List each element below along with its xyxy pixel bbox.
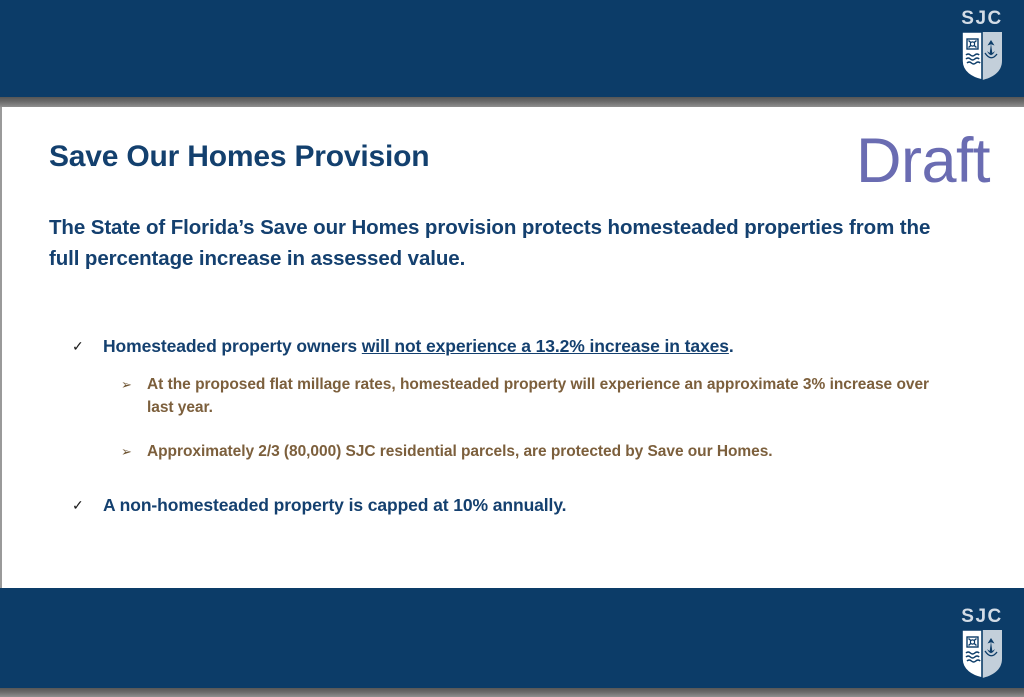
bullet-text-tail: . [729,336,734,356]
page-title: Save Our Homes Provision [49,140,429,174]
intro-paragraph: The State of Florida’s Save our Homes pr… [49,212,954,274]
list-item: ✓ A non-homesteaded property is capped a… [49,492,979,518]
sjc-wordmark: SJC [952,606,1012,627]
list-item: ➢ At the proposed flat millage rates, ho… [49,373,929,419]
arrow-bullet-icon: ➢ [121,440,132,463]
bullet-text-plain: A non-homesteaded property is capped at … [103,495,566,515]
list-item: ✓ Homesteaded property owners will not e… [49,333,979,359]
shield-icon [961,31,1003,81]
sub-bullet-text: At the proposed flat millage rates, home… [147,376,929,416]
sjc-wordmark: SJC [952,8,1012,29]
arrow-bullet-icon: ➢ [121,373,132,396]
sub-bullet-list: ➢ At the proposed flat millage rates, ho… [49,373,979,463]
bullet-text-underlined: will not experience a 13.2% increase in … [362,336,729,356]
header-band [0,0,1024,97]
slide-left-edge [0,107,2,588]
sub-bullet-text: Approximately 2/3 (80,000) SJC residenti… [147,443,773,460]
slide-canvas: SJC Save Our Hom [0,0,1024,697]
list-item: ➢ Approximately 2/3 (80,000) SJC residen… [49,440,929,463]
draft-watermark: Draft [856,126,990,196]
sjc-shield-logo-footer: SJC [952,606,1012,680]
footer-band-shadow [0,688,1024,697]
sjc-shield-logo-header: SJC [952,8,1012,82]
checkmark-icon: ✓ [72,333,84,359]
shield-icon [961,629,1003,679]
checkmark-icon: ✓ [72,492,84,518]
footer-band [0,588,1024,688]
header-band-shadow [0,97,1024,107]
list-spacer [49,484,979,492]
bullet-list: ✓ Homesteaded property owners will not e… [49,333,979,522]
bullet-text-plain: Homesteaded property owners [103,336,362,356]
